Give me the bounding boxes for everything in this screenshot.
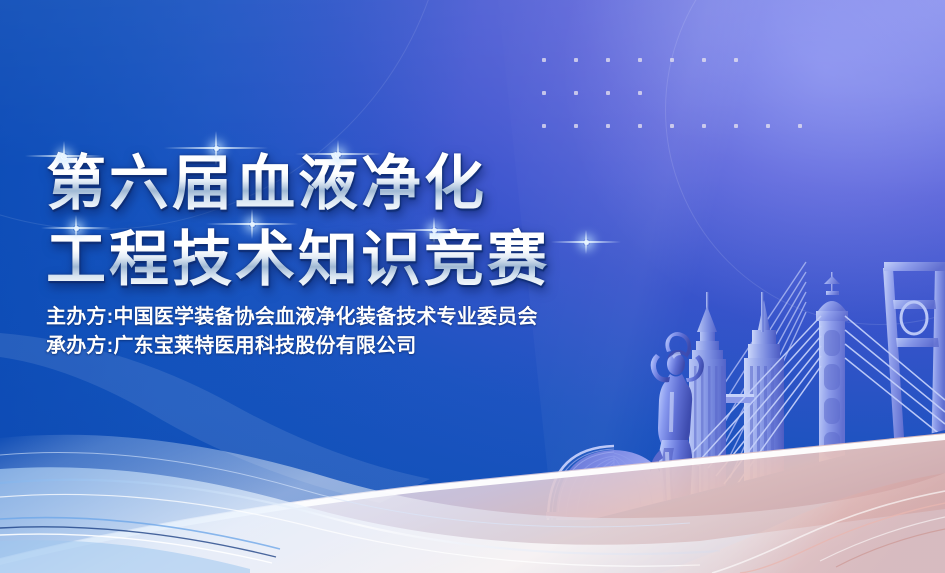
- poster-title: 第六届血液净化 工程技术知识竞赛: [46, 150, 686, 294]
- co-organizer-line: 承办方:广东宝莱特医用科技股份有限公司: [46, 332, 538, 361]
- poster-subtitles: 主办方:中国医学装备协会血液净化装备技术专业委员会 承办方:广东宝莱特医用科技股…: [46, 303, 538, 361]
- title-line-1: 第六届血液净化: [46, 150, 686, 218]
- conference-poster: 第六届血液净化 工程技术知识竞赛: [0, 0, 945, 573]
- title-line-2: 工程技术知识竞赛: [46, 226, 686, 294]
- organizer-line: 主办方:中国医学装备协会血液净化装备技术专业委员会: [46, 303, 538, 332]
